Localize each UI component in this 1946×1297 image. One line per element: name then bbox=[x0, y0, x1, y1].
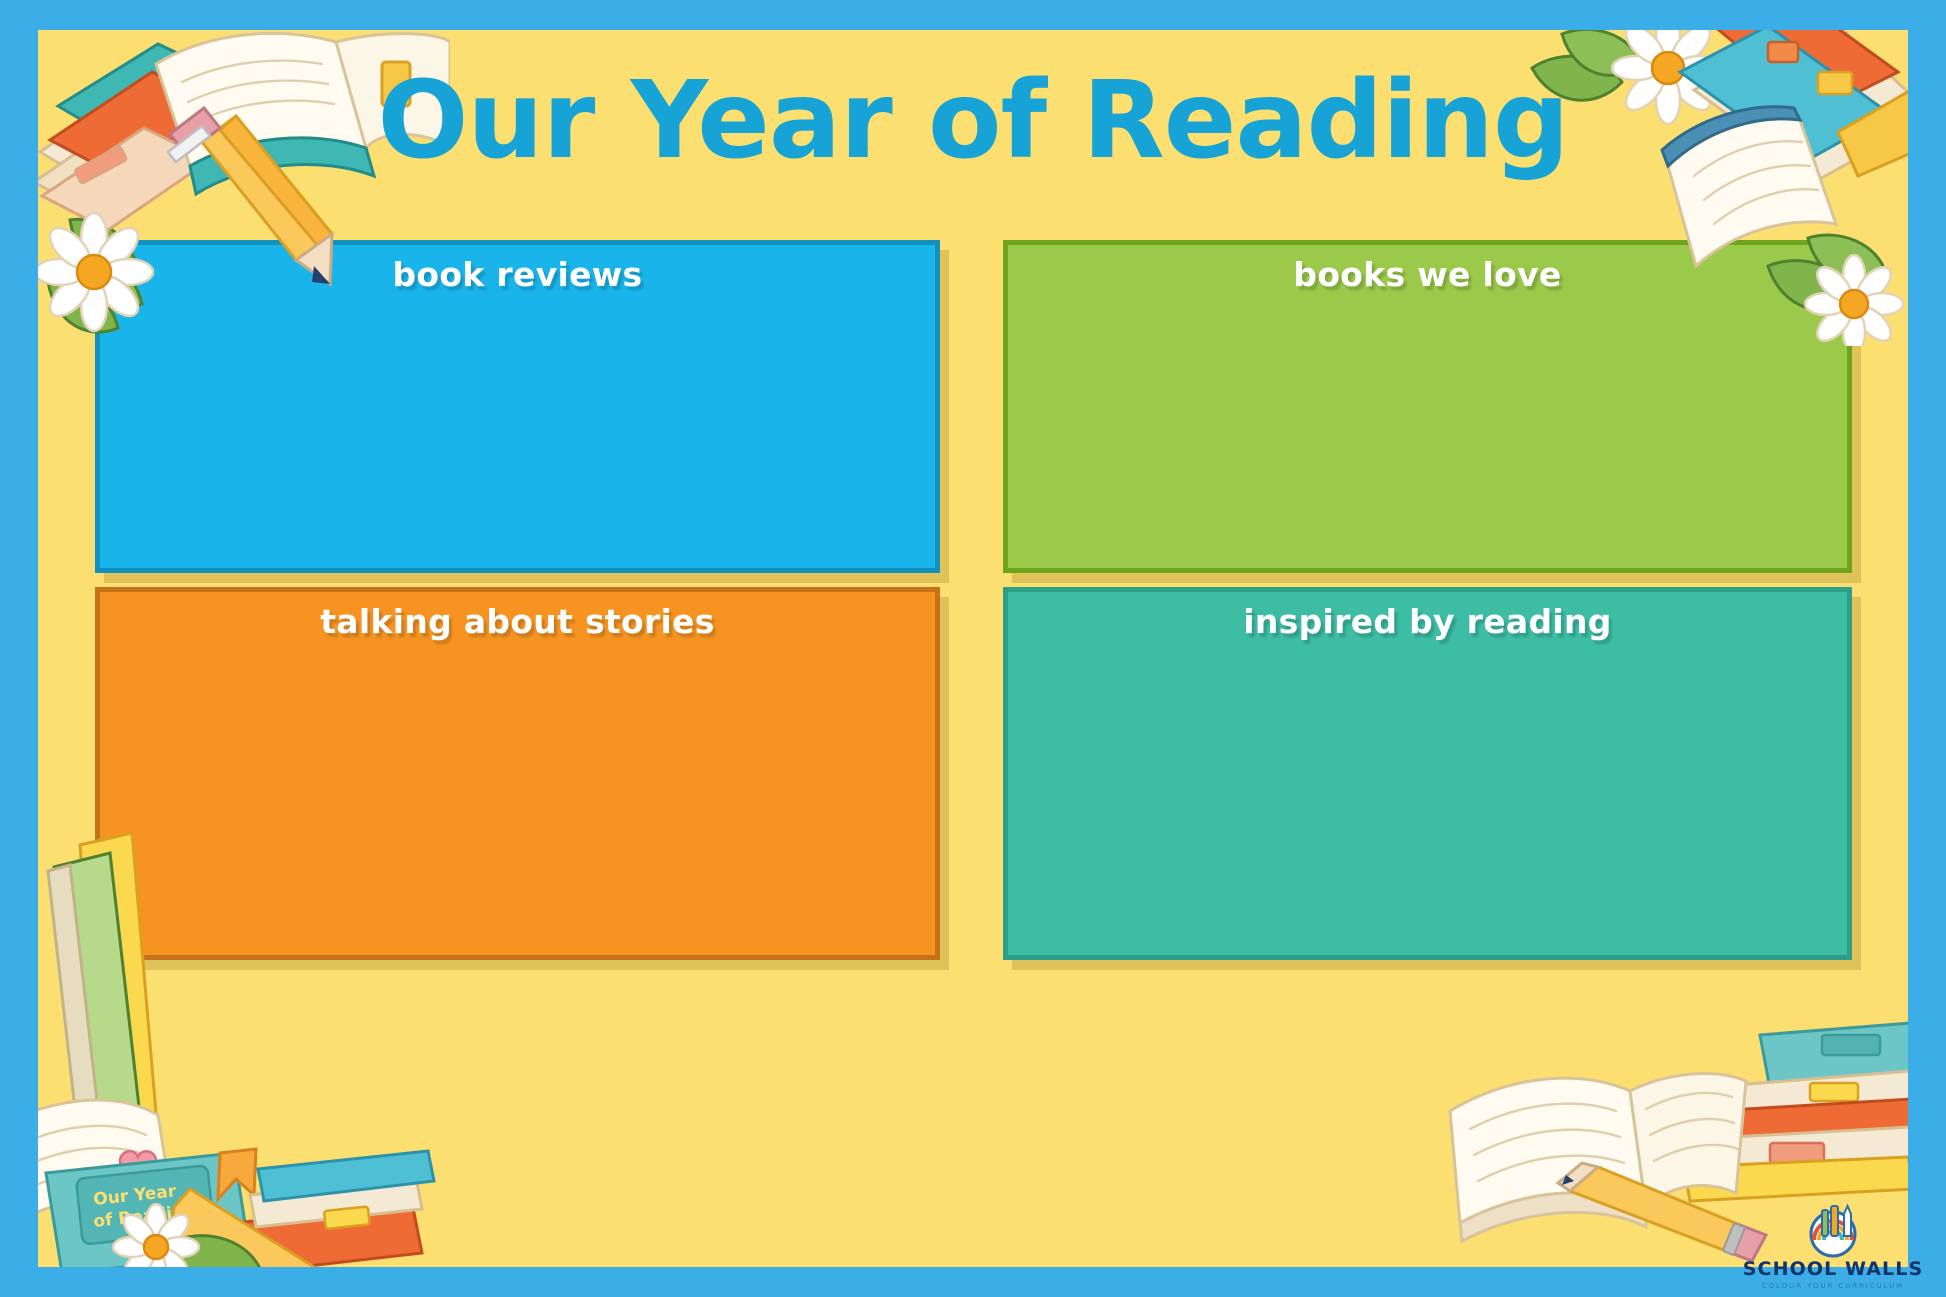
stacked-books-icon bbox=[236, 1151, 434, 1267]
panel-books-we-love[interactable]: books we love bbox=[1003, 240, 1852, 573]
display-board: Our Year of Reading book reviews books w… bbox=[0, 0, 1946, 1297]
board-canvas: Our Year of Reading book reviews books w… bbox=[38, 30, 1908, 1267]
panel-label-books-we-love: books we love bbox=[1008, 255, 1847, 294]
pencil-icon bbox=[1558, 1163, 1766, 1261]
panel-label-inspired-by-reading: inspired by reading bbox=[1008, 602, 1847, 641]
school-walls-logo[interactable]: SCHOOL WALLS COLOUR YOUR CURRICULUM bbox=[1740, 1200, 1926, 1289]
pencil-icon bbox=[166, 1189, 314, 1267]
panel-label-book-reviews: book reviews bbox=[100, 255, 935, 294]
notebook-cover-text-line2: of Reading bbox=[92, 1201, 197, 1232]
panel-book-reviews[interactable]: book reviews bbox=[95, 240, 940, 573]
panel-label-talking-about-stories: talking about stories bbox=[100, 602, 935, 641]
notebook-cover-text-line1: Our Year bbox=[92, 1181, 177, 1210]
notebook-icon: Our Year of Reading bbox=[46, 1149, 256, 1267]
logo-wordmark: SCHOOL WALLS bbox=[1740, 1260, 1926, 1279]
open-book-icon bbox=[1450, 1074, 1746, 1241]
page-title: Our Year of Reading bbox=[38, 68, 1908, 175]
leaves-icon bbox=[174, 1236, 262, 1267]
logo-tagline: COLOUR YOUR CURRICULUM bbox=[1740, 1282, 1926, 1289]
open-book-icon bbox=[38, 1100, 174, 1221]
school-walls-logo-icon bbox=[1798, 1200, 1868, 1258]
stacked-books-icon bbox=[1684, 1023, 1908, 1201]
daisy-flower-icon bbox=[113, 1204, 199, 1267]
panel-inspired-by-reading[interactable]: inspired by reading bbox=[1003, 587, 1852, 960]
panel-talking-about-stories[interactable]: talking about stories bbox=[95, 587, 940, 960]
